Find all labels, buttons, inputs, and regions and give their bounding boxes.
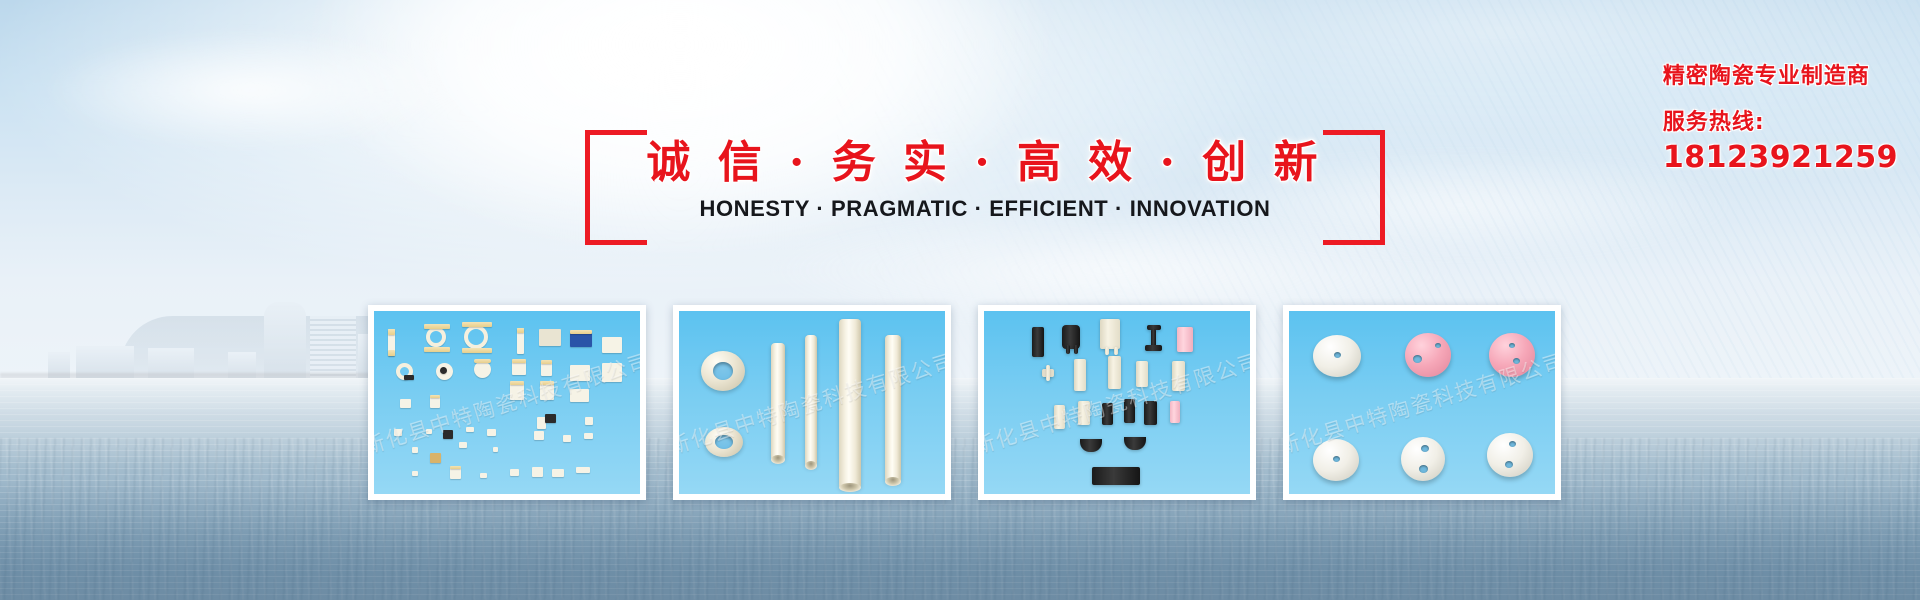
- slogan-block: 诚 信 · 务 实 · 高 效 · 创 新 HONESTY · PRAGMATI…: [585, 130, 1385, 245]
- product-image: 新化县中特陶瓷科技有限公司: [1289, 311, 1555, 494]
- promo-banner: 诚 信 · 务 实 · 高 效 · 创 新 HONESTY · PRAGMATI…: [0, 0, 1920, 600]
- product-panel-ceramic-discs-and-nozzles[interactable]: 新化县中特陶瓷科技有限公司: [1283, 305, 1561, 500]
- building: [264, 302, 306, 378]
- image-watermark: 新化县中特陶瓷科技有限公司: [374, 344, 640, 460]
- product-gallery: 新化县中特陶瓷科技有限公司 新化县中特陶瓷科技有限公司: [368, 305, 1561, 500]
- hotline-number: 18123921259: [1663, 140, 1898, 175]
- product-image: 新化县中特陶瓷科技有限公司: [679, 311, 945, 494]
- product-panel-smd-ceramic-chips[interactable]: 新化县中特陶瓷科技有限公司: [368, 305, 646, 500]
- product-panel-ceramic-tubes-and-rings[interactable]: 新化县中特陶瓷科技有限公司: [673, 305, 951, 500]
- product-image: 新化县中特陶瓷科技有限公司: [984, 311, 1250, 494]
- slogan-english: HONESTY · PRAGMATIC · EFFICIENT · INNOVA…: [585, 196, 1385, 222]
- product-panel-ceramic-blocks-and-plates[interactable]: 新化县中特陶瓷科技有限公司: [978, 305, 1256, 500]
- hotline-label: 服务热线:: [1663, 104, 1898, 136]
- company-tagline: 精密陶瓷专业制造商: [1663, 58, 1898, 90]
- product-image: 新化县中特陶瓷科技有限公司: [374, 311, 640, 494]
- slogan-chinese: 诚 信 · 务 实 · 高 效 · 创 新: [585, 126, 1385, 190]
- building: [310, 316, 356, 378]
- contact-block: 精密陶瓷专业制造商 服务热线: 18123921259: [1663, 58, 1898, 175]
